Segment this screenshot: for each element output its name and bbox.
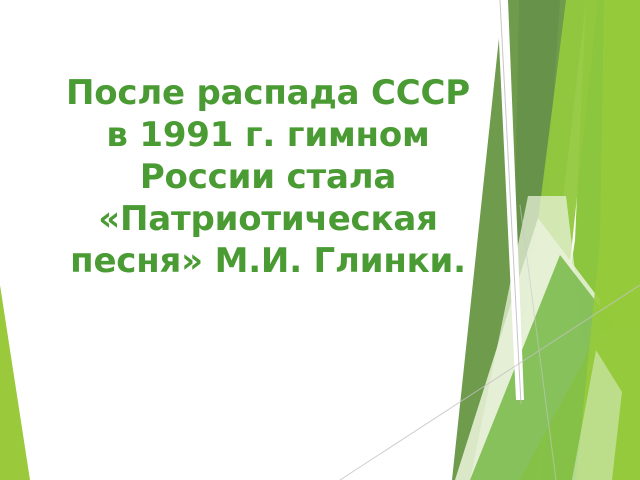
body-line-5: песня» М.И. Глинки. (18, 240, 518, 282)
decor-wedge-bright-mid (505, 0, 598, 480)
decor-wedge-olive-dark (512, 0, 560, 372)
body-line-4: «Патриотическая (18, 198, 518, 240)
decor-wedge-mid-green-diagonal (470, 255, 612, 480)
decor-wedge-left-bottom (0, 285, 30, 480)
body-line-3: России стала (18, 156, 518, 198)
decor-wedge-bright-right (540, 0, 640, 480)
decor-wedge-bright-front (576, 0, 640, 480)
decor-hairline-short (520, 205, 556, 480)
body-line-1: После распада СССР (18, 72, 518, 114)
slide-body-text: После распада СССР в 1991 г. гимном Росс… (18, 72, 518, 282)
decor-wedge-pale-highlight (572, 350, 622, 480)
decor-hairline-diagonal (340, 285, 640, 480)
slide: После распада СССР в 1991 г. гимном Росс… (0, 0, 640, 480)
decor-wedge-mid-green-corner (520, 330, 640, 480)
body-line-2: в 1991 г. гимном (18, 114, 518, 156)
